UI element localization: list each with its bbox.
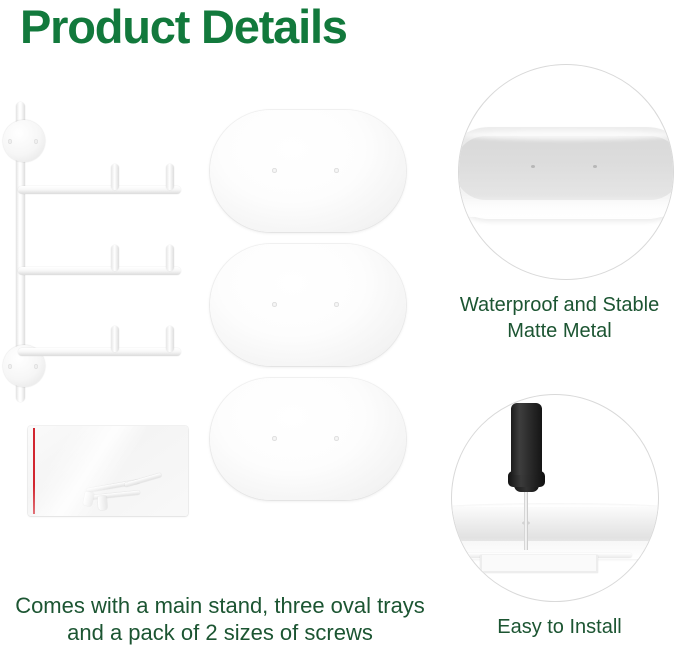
tray-screw-hole — [272, 168, 277, 173]
parts-overview — [0, 62, 440, 592]
wall-plate-screw-hole — [34, 139, 38, 144]
wall-plate-screw-hole — [8, 139, 12, 144]
caption-parts-included: Comes with a main stand, three oval tray… — [0, 592, 440, 646]
tray-screw-hole — [593, 165, 597, 168]
stand-arm-prong — [166, 245, 174, 271]
stand-arm — [18, 245, 181, 275]
wall-plate-screw-hole — [34, 364, 38, 369]
stand-arm-prong — [111, 326, 119, 352]
stand-arm-rail — [18, 186, 181, 194]
angled-tray-rim — [458, 195, 674, 217]
angled-tray-highlight — [463, 130, 673, 140]
wall-plate-top — [3, 120, 45, 162]
stand-arm-prong — [166, 326, 174, 352]
wall-plate-screw-hole — [8, 364, 12, 369]
screwdriver-handle-icon — [511, 403, 542, 475]
angled-tray-body — [458, 127, 674, 219]
tray-screw-hole — [334, 436, 339, 441]
caption-waterproof-matte: Waterproof and Stable Matte Metal — [440, 292, 679, 344]
install-bracket — [480, 555, 598, 573]
stand-arm-rail — [18, 348, 181, 356]
angled-tray-inner-surface — [458, 136, 674, 200]
screw-bag — [28, 426, 188, 516]
inset-easy-install — [451, 394, 659, 602]
oval-tray — [210, 110, 406, 232]
stand-arm-rail — [18, 267, 181, 275]
page-title: Product Details — [20, 0, 347, 56]
tray-screw-hole — [531, 165, 535, 168]
bag-plastic-sheen — [28, 426, 148, 516]
oval-tray — [210, 378, 406, 500]
tray-screw-hole — [272, 302, 277, 307]
tray-screw-hole — [272, 436, 277, 441]
stand-arm-prong — [166, 164, 174, 190]
product-details-page: Product Details — [0, 0, 679, 651]
stand-arm — [18, 326, 181, 356]
stand-arm-prong — [111, 245, 119, 271]
stand-arm — [18, 164, 181, 194]
screwdriver-shaft-icon — [524, 490, 528, 550]
caption-easy-install: Easy to Install — [440, 614, 679, 641]
oval-tray — [210, 244, 406, 366]
tray-screw-hole — [334, 302, 339, 307]
inset-waterproof-matte — [458, 64, 674, 280]
tray-screw-hole — [334, 168, 339, 173]
install-scene-graphic — [452, 395, 659, 602]
stand-arm-prong — [111, 164, 119, 190]
angled-tray-graphic — [458, 127, 674, 227]
main-stand-graphic — [8, 102, 203, 402]
